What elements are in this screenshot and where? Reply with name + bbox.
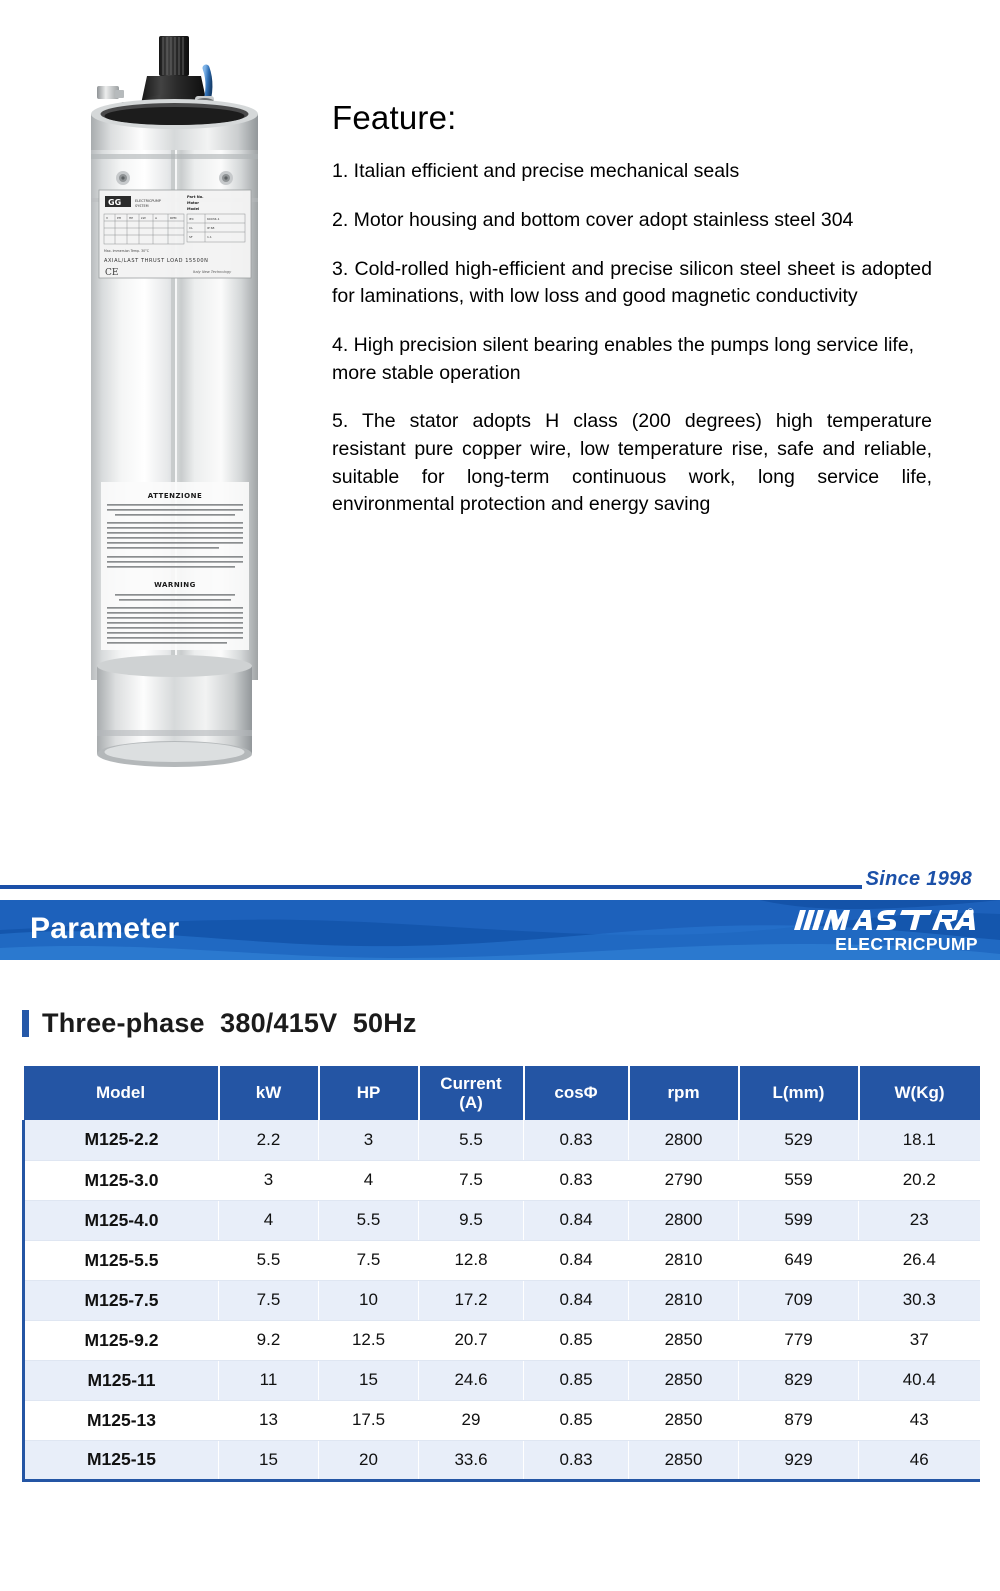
table-row: M125-2.2 2.2 3 5.5 0.83 2800 529 18.1 xyxy=(24,1120,980,1160)
cell-model: M125-3.0 xyxy=(24,1160,219,1200)
pump-nameplate: GG ELECTRICPUMP SYSTEM Part No. Motor Mo… xyxy=(99,190,251,278)
cell-cosphi: 0.85 xyxy=(524,1360,629,1400)
cell-cosphi: 0.85 xyxy=(524,1320,629,1360)
heading-text: Three-phase 380/415V 50Hz xyxy=(42,1008,417,1039)
feature-item: 3. Cold-rolled high-efficient and precis… xyxy=(332,256,932,311)
cell-hp: 20 xyxy=(319,1440,419,1480)
svg-text:PH: PH xyxy=(117,216,121,220)
table-row: M125-7.5 7.5 10 17.2 0.84 2810 709 30.3 xyxy=(24,1280,980,1320)
logo-subtitle: ELECTRICPUMP xyxy=(768,936,978,954)
cell-cosphi: 0.85 xyxy=(524,1400,629,1440)
table-row: M125-4.0 4 5.5 9.5 0.84 2800 599 23 xyxy=(24,1200,980,1240)
svg-text:ELECTRICPUMP: ELECTRICPUMP xyxy=(135,199,161,203)
cell-kw: 11 xyxy=(219,1360,319,1400)
svg-text:GG: GG xyxy=(108,198,121,207)
cell-model: M125-15 xyxy=(24,1440,219,1480)
column-header-current: Current (A) xyxy=(419,1066,524,1120)
cell-current: 33.6 xyxy=(419,1440,524,1480)
svg-text:Max. Immersion Temp. 30°C: Max. Immersion Temp. 30°C xyxy=(104,249,150,253)
table-row: M125-3.0 3 4 7.5 0.83 2790 559 20.2 xyxy=(24,1160,980,1200)
cell-model: M125-9.2 xyxy=(24,1320,219,1360)
cell-model: M125-11 xyxy=(24,1360,219,1400)
cell-kw: 15 xyxy=(219,1440,319,1480)
mastra-logo-icon: ® xyxy=(790,906,978,934)
svg-text:IP 68: IP 68 xyxy=(207,226,215,230)
cell-kw: 2.2 xyxy=(219,1120,319,1160)
cell-hp: 15 xyxy=(319,1360,419,1400)
cell-rpm: 2810 xyxy=(629,1280,739,1320)
cell-rpm: 2800 xyxy=(629,1120,739,1160)
cell-current: 5.5 xyxy=(419,1120,524,1160)
cell-weight: 23 xyxy=(859,1200,980,1240)
svg-text:ATTENZIONE: ATTENZIONE xyxy=(148,492,203,500)
cell-kw: 9.2 xyxy=(219,1320,319,1360)
cell-kw: 4 xyxy=(219,1200,319,1240)
cell-weight: 46 xyxy=(859,1440,980,1480)
svg-text:AXIAL/LAST THRUST LOAD 15500N: AXIAL/LAST THRUST LOAD 15500N xyxy=(104,258,208,264)
column-header-cosphi: cosΦ xyxy=(524,1066,629,1120)
cell-cosphi: 0.84 xyxy=(524,1280,629,1320)
cell-rpm: 2790 xyxy=(629,1160,739,1200)
cell-length: 929 xyxy=(739,1440,859,1480)
cell-hp: 17.5 xyxy=(319,1400,419,1440)
feature-title: Feature: xyxy=(332,100,932,136)
cell-weight: 30.3 xyxy=(859,1280,980,1320)
svg-text:WARNING: WARNING xyxy=(154,581,196,589)
cell-cosphi: 0.83 xyxy=(524,1120,629,1160)
column-header-length: L(mm) xyxy=(739,1066,859,1120)
svg-text:Italy New Technology: Italy New Technology xyxy=(193,270,232,274)
cell-current: 24.6 xyxy=(419,1360,524,1400)
svg-text:kW: kW xyxy=(141,216,146,220)
cell-hp: 5.5 xyxy=(319,1200,419,1240)
feature-item: 5. The stator adopts H class (200 degree… xyxy=(332,408,932,519)
cell-length: 709 xyxy=(739,1280,859,1320)
cell-rpm: 2850 xyxy=(629,1400,739,1440)
cell-model: M125-5.5 xyxy=(24,1240,219,1280)
cell-cosphi: 0.83 xyxy=(524,1160,629,1200)
svg-text:1.1: 1.1 xyxy=(207,235,212,239)
pump-bottom-cover xyxy=(97,666,252,754)
cell-model: M125-4.0 xyxy=(24,1200,219,1240)
feature-item: 2. Motor housing and bottom cover adopt … xyxy=(332,207,932,235)
cell-length: 879 xyxy=(739,1400,859,1440)
parameter-banner: Parameter ® ELECTRICPUMP xyxy=(0,900,1000,960)
cell-hp: 3 xyxy=(319,1120,419,1160)
cell-weight: 43 xyxy=(859,1400,980,1440)
cell-model: M125-2.2 xyxy=(24,1120,219,1160)
heading-accent-bar xyxy=(22,1010,29,1037)
table-row: M125-15 15 20 33.6 0.83 2850 929 46 xyxy=(24,1440,980,1480)
table-body: M125-2.2 2.2 3 5.5 0.83 2800 529 18.1 M1… xyxy=(24,1120,980,1480)
svg-text:SYSTEM: SYSTEM xyxy=(135,204,149,208)
cell-current: 7.5 xyxy=(419,1160,524,1200)
svg-text:Part No.: Part No. xyxy=(187,195,204,199)
cell-kw: 13 xyxy=(219,1400,319,1440)
cell-rpm: 2850 xyxy=(629,1440,739,1480)
cell-hp: 12.5 xyxy=(319,1320,419,1360)
column-header-kw: kW xyxy=(219,1066,319,1120)
cell-cosphi: 0.84 xyxy=(524,1200,629,1240)
cell-rpm: 2850 xyxy=(629,1320,739,1360)
cell-hp: 4 xyxy=(319,1160,419,1200)
since-label: Since 1998 xyxy=(866,868,972,891)
cell-length: 829 xyxy=(739,1360,859,1400)
cell-current: 17.2 xyxy=(419,1280,524,1320)
cell-rpm: 2810 xyxy=(629,1240,739,1280)
column-header-weight: W(Kg) xyxy=(859,1066,980,1120)
table-header-row: Model kW HP Current (A) cosΦ rpm L(mm) W… xyxy=(24,1066,980,1120)
cell-rpm: 2850 xyxy=(629,1360,739,1400)
section-heading: Three-phase 380/415V 50Hz xyxy=(22,1006,417,1040)
cell-kw: 5.5 xyxy=(219,1240,319,1280)
cell-model: M125-7.5 xyxy=(24,1280,219,1320)
cell-kw: 3 xyxy=(219,1160,319,1200)
parameter-table: Model kW HP Current (A) cosΦ rpm L(mm) W… xyxy=(22,1066,980,1482)
cell-weight: 40.4 xyxy=(859,1360,980,1400)
cell-length: 779 xyxy=(739,1320,859,1360)
cell-length: 559 xyxy=(739,1160,859,1200)
product-overview-section: GG ELECTRICPUMP SYSTEM Part No. Motor Mo… xyxy=(0,0,1000,870)
feature-item: 4. High precision silent bearing enables… xyxy=(332,332,932,387)
pump-warning-label: ATTENZIONE WARNING xyxy=(101,482,249,650)
table-row: M125-11 11 15 24.6 0.85 2850 829 40.4 xyxy=(24,1360,980,1400)
cell-current: 9.5 xyxy=(419,1200,524,1240)
svg-text:CL: CL xyxy=(189,226,193,230)
banner-title: Parameter xyxy=(30,912,179,946)
svg-text:HP: HP xyxy=(129,216,133,220)
cell-rpm: 2800 xyxy=(629,1200,739,1240)
feature-block: Feature: 1. Italian efficient and precis… xyxy=(332,100,932,519)
current-line-2: (A) xyxy=(459,1093,483,1112)
table-row: M125-13 13 17.5 29 0.85 2850 879 43 xyxy=(24,1400,980,1440)
product-image: GG ELECTRICPUMP SYSTEM Part No. Motor Mo… xyxy=(75,30,275,770)
svg-text:Model: Model xyxy=(187,207,199,211)
since-divider: Since 1998 xyxy=(0,868,1000,898)
cell-cosphi: 0.83 xyxy=(524,1440,629,1480)
svg-text:Motor: Motor xyxy=(187,201,199,205)
cell-current: 20.7 xyxy=(419,1320,524,1360)
column-header-rpm: rpm xyxy=(629,1066,739,1120)
column-header-model: Model xyxy=(24,1066,219,1120)
svg-text:IEC: IEC xyxy=(189,217,194,221)
cell-length: 649 xyxy=(739,1240,859,1280)
cell-weight: 26.4 xyxy=(859,1240,980,1280)
svg-text:RPM: RPM xyxy=(170,216,177,220)
cell-weight: 18.1 xyxy=(859,1120,980,1160)
divider-rule xyxy=(0,885,862,889)
svg-text:CE: CE xyxy=(105,268,118,278)
feature-item: 1. Italian efficient and precise mechani… xyxy=(332,158,932,186)
pump-illustration: GG ELECTRICPUMP SYSTEM Part No. Motor Mo… xyxy=(75,30,275,770)
cell-hp: 7.5 xyxy=(319,1240,419,1280)
cell-hp: 10 xyxy=(319,1280,419,1320)
cell-weight: 37 xyxy=(859,1320,980,1360)
cell-current: 12.8 xyxy=(419,1240,524,1280)
cell-length: 599 xyxy=(739,1200,859,1240)
cell-current: 29 xyxy=(419,1400,524,1440)
cell-model: M125-13 xyxy=(24,1400,219,1440)
cell-weight: 20.2 xyxy=(859,1160,980,1200)
table-row: M125-9.2 9.2 12.5 20.7 0.85 2850 779 37 xyxy=(24,1320,980,1360)
table-row: M125-5.5 5.5 7.5 12.8 0.84 2810 649 26.4 xyxy=(24,1240,980,1280)
cell-kw: 7.5 xyxy=(219,1280,319,1320)
cell-length: 529 xyxy=(739,1120,859,1160)
registered-mark: ® xyxy=(966,908,975,918)
current-line-1: Current xyxy=(440,1074,501,1093)
svg-text:60034-1: 60034-1 xyxy=(207,217,220,221)
brand-logo: ® ELECTRICPUMP xyxy=(768,906,978,956)
column-header-hp: HP xyxy=(319,1066,419,1120)
cell-cosphi: 0.84 xyxy=(524,1240,629,1280)
svg-text:SF: SF xyxy=(189,235,193,239)
